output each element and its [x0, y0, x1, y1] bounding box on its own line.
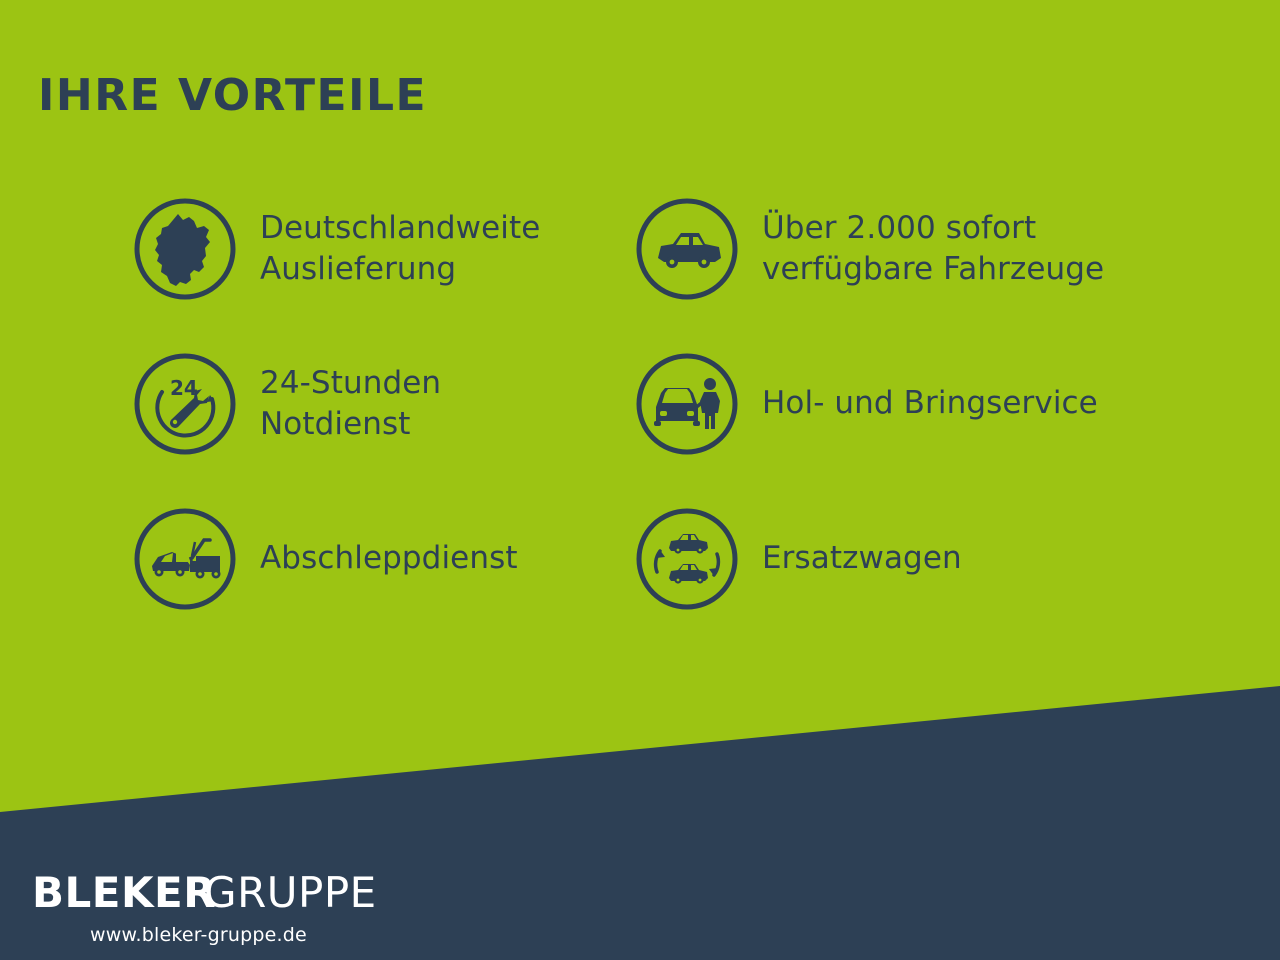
benefit-label: Hol- und Bringservice: [762, 383, 1098, 424]
benefit-item-ersatzwagen[interactable]: Ersatzwagen: [634, 500, 962, 618]
page-title: IHRE VORTEILE: [38, 74, 427, 118]
24-hour-wrench-icon: 24: [132, 351, 238, 457]
benefit-item-deutschlandweite-auslieferung[interactable]: Deutschlandweite Auslieferung: [132, 190, 540, 308]
benefit-label: Abschleppdienst: [260, 538, 518, 579]
car-side-icon: [634, 196, 740, 302]
svg-text:24: 24: [170, 376, 198, 400]
benefit-item-abschleppdienst[interactable]: Abschleppdienst: [132, 500, 518, 618]
logo-url[interactable]: www.bleker-gruppe.de: [90, 924, 372, 946]
germany-map-icon: [132, 196, 238, 302]
tow-truck-icon: [132, 506, 238, 612]
benefit-label: Deutschlandweite Auslieferung: [260, 208, 540, 290]
logo-secondary-text: GRUPPE: [204, 872, 377, 914]
benefit-label: Ersatzwagen: [762, 538, 962, 579]
benefit-item-hol-und-bringservice[interactable]: Hol- und Bringservice: [634, 345, 1098, 463]
logo-wordmark: BLEKER GRUPPE: [32, 868, 372, 918]
footer-logo[interactable]: BLEKER GRUPPE www.bleker-gruppe.de: [32, 868, 372, 946]
benefit-label: Über 2.000 sofort verfügbare Fahrzeuge: [762, 208, 1104, 290]
benefit-label: 24-Stunden Notdienst: [260, 363, 441, 445]
logo-primary-text: BLEKER: [32, 872, 216, 914]
benefit-item-24-stunden-notdienst[interactable]: 24 24-Stunden Notdienst: [132, 345, 441, 463]
slide-root: IHRE VORTEILE Deutschlandweite Ausliefer…: [0, 0, 1280, 960]
car-with-attendant-icon: [634, 351, 740, 457]
car-exchange-icon: [634, 506, 740, 612]
benefit-item-verfuegbare-fahrzeuge[interactable]: Über 2.000 sofort verfügbare Fahrzeuge: [634, 190, 1104, 308]
